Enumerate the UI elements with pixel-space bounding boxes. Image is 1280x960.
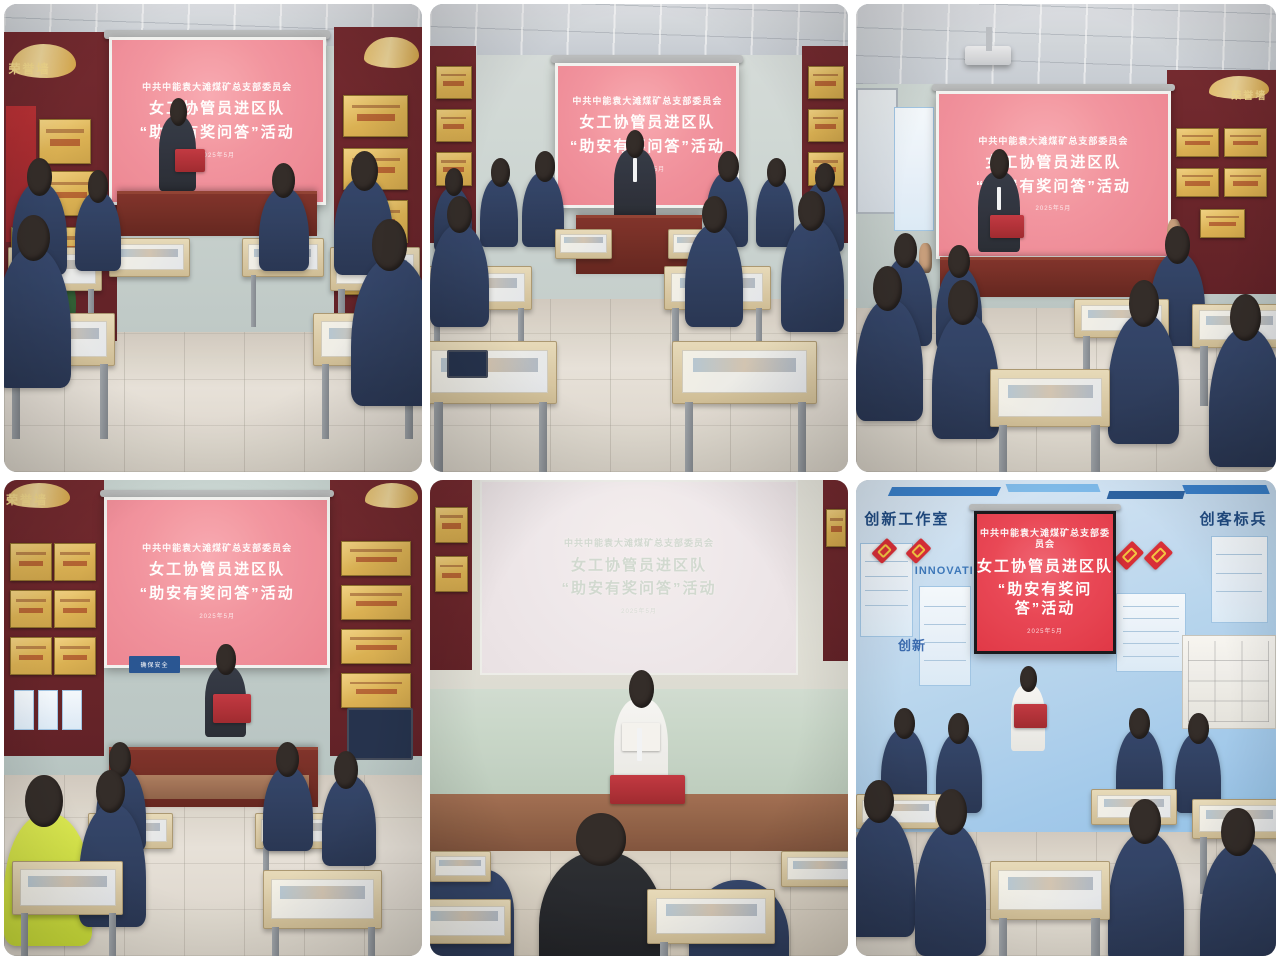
gift-bags [948,238,1158,261]
slide-line-4: 2025年5月 [199,153,235,161]
slide-content: 中共中能袁大滩煤矿总支部委员会 女工协管员进区队 “助安有奖问答”活动 2025… [482,482,796,673]
red-folder [1014,704,1048,728]
innovation-title-right: 创客标兵 [1200,508,1268,529]
slide-line-3: “助安有奖问答”活动 [140,585,295,604]
honor-wall-text: 荣誉墙 [6,491,48,508]
computer-monitor [347,708,414,760]
slide-line-2: 女工协管员进区队 [149,561,285,580]
innovation-title-left: 创新工作室 [864,508,949,529]
safety-sign: 确保安全 [129,656,179,673]
slide-line-2: 女工协管员进区队 [571,557,707,576]
chinese-knot-icon [1144,541,1173,570]
red-folder [990,215,1024,238]
innovation-secondary-word: 创新 [898,635,926,654]
slide-line-4: 2025年5月 [1036,206,1072,214]
photo-6: 创新工作室 创客标兵 INNOVATION 创新 [856,480,1276,956]
projection-screen: 中共中能袁大滩煤矿总支部委员会 女工协管员进区队 “助安有奖问答”活动 2025… [480,480,798,675]
photo-cell-top-center: 中共中能袁大滩煤矿总支部委员会 女工协管员进区队 “助安有奖问答”活动 2025… [426,0,852,476]
speaker-head [990,149,1009,179]
honor-wall: 荣誉墙 [4,480,104,756]
slide-line-2: 女工协管员进区队 [579,114,715,133]
slide-content: 中共中能袁大滩煤矿总支部委员会 女工协管员进区队 “助安有奖问答”活动 2025… [977,514,1114,651]
chinese-knot-icon [1114,541,1143,570]
photo-collage: 荣誉墙 [0,0,1280,960]
gift-bags [430,756,580,794]
slide-line-2: 女工协管员进区队 [977,558,1113,577]
slide-content: 中共中能袁大滩煤矿总支部委员会 女工协管员进区队 “助安有奖问答”活动 2025… [107,500,327,665]
red-folder [610,775,685,804]
photo-cell-bottom-center: 中共中能袁大滩煤矿总支部委员会 女工协管员进区队 “助安有奖问答”活动 2025… [426,476,852,960]
gift-bags [585,196,694,219]
photo-3: 荣誉墙 中共中能袁大滩煤矿总支部委员会 女工协管员进区队 “助安有奖问答”活动 … [856,4,1276,472]
slide-content: 中共中能袁大滩煤矿总支部委员会 女工协管员进区队 “助安有奖问答”活动 2025… [939,94,1168,256]
speaker-head [629,670,654,708]
speaker-head [216,644,235,674]
photo-cell-bottom-left: 荣誉墙 [0,476,426,960]
slide-line-3: “助安有奖问答”活动 [977,581,1114,619]
slide-line-1: 中共中能袁大滩煤矿总支部委员会 [978,136,1128,147]
photo-cell-bottom-right: 创新工作室 创客标兵 INNOVATION 创新 [852,476,1280,960]
projection-screen: 中共中能袁大滩煤矿总支部委员会 女工协管员进区队 “助安有奖问答”活动 2025… [974,511,1117,654]
photo-4: 荣誉墙 [4,480,422,956]
slide-line-4: 2025年5月 [199,614,235,622]
photo-cell-top-left: 荣誉墙 [0,0,426,476]
slide-line-4: 2025年5月 [1027,629,1063,637]
slide-line-3: “助安有奖问答”活动 [561,580,716,599]
slide-line-1: 中共中能袁大滩煤矿总支部委员会 [564,538,714,549]
speaker-head [170,98,188,126]
honor-wall-text: 荣誉墙 [1231,87,1267,102]
projection-screen: 中共中能袁大滩煤矿总支部委员会 女工协管员进区队 “助安有奖问答”活动 2025… [936,91,1171,259]
photo-1: 荣誉墙 [4,4,422,472]
photo-cell-top-right: 荣誉墙 中共中能袁大滩煤矿总支部委员会 女工协管员进区队 “助安有奖问答”活动 … [852,0,1280,476]
slide-line-1: 中共中能袁大滩煤矿总支部委员会 [142,82,292,93]
speaker-head [1020,666,1037,692]
red-folder [175,149,204,172]
red-folder [213,694,251,723]
honor-wall-text: 荣誉墙 [9,60,51,77]
slide-line-1: 中共中能袁大滩煤矿总支部委员会 [572,96,722,107]
slide-line-1: 中共中能袁大滩煤矿总支部委员会 [142,543,292,554]
photo-5: 中共中能袁大滩煤矿总支部委员会 女工协管员进区队 “助安有奖问答”活动 2025… [430,480,848,956]
projection-screen: 中共中能袁大滩煤矿总支部委员会 女工协管员进区队 “助安有奖问答”活动 2025… [104,497,330,668]
slide-line-4: 2025年5月 [621,609,657,617]
slide-line-1: 中共中能袁大滩煤矿总支部委员会 [977,528,1114,551]
photo-2: 中共中能袁大滩煤矿总支部委员会 女工协管员进区队 “助安有奖问答”活动 2025… [430,4,848,472]
